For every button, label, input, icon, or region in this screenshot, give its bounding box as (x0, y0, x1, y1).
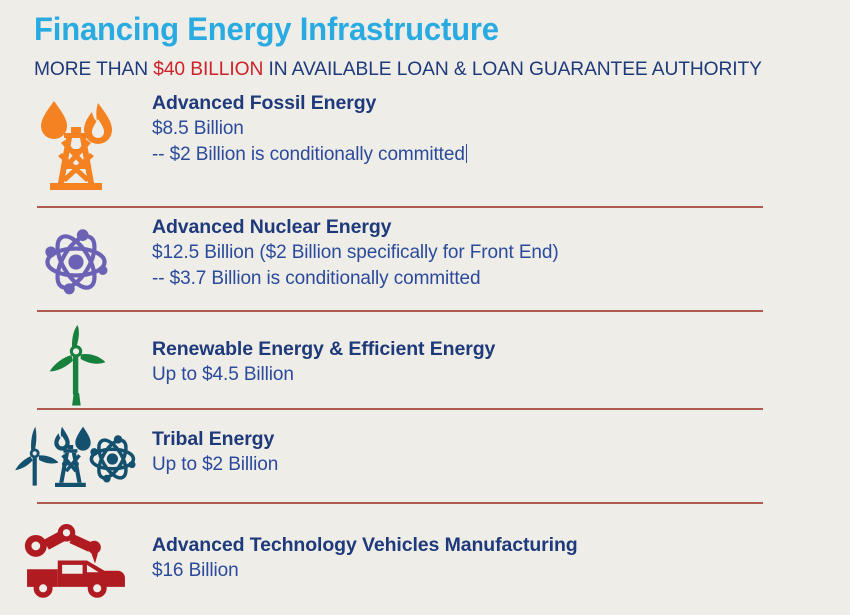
truck-robotic-arm-icon (21, 524, 131, 600)
icon-cell-fossil (0, 88, 152, 198)
program-list: Advanced Fossil Energy $8.5 Billion -- $… (0, 88, 850, 602)
list-item-nuclear: Advanced Nuclear Energy $12.5 Billion ($… (0, 206, 850, 310)
slide-header: Financing Energy Infrastructure MORE THA… (34, 10, 824, 81)
program-amount-fossil: $8.5 Billion (152, 116, 467, 142)
list-item-atvm: Advanced Technology Vehicles Manufacturi… (0, 502, 850, 602)
program-note-fossil: -- $2 Billion is conditionally committed (152, 144, 465, 165)
program-title-renewable: Renewable Energy & Efficient Energy (152, 336, 495, 362)
atom-icon (34, 220, 118, 304)
tribal-energy-composite-icon (13, 424, 139, 494)
list-item-fossil: Advanced Fossil Energy $8.5 Billion -- $… (0, 88, 850, 206)
text-cell-tribal: Tribal Energy Up to $2 Billion (152, 416, 278, 478)
text-cell-renewable: Renewable Energy & Efficient Energy Up t… (152, 320, 495, 388)
program-note-fossil-wrap: -- $2 Billion is conditionally committed (152, 142, 467, 168)
program-amount-renewable: Up to $4.5 Billion (152, 362, 495, 388)
program-title-nuclear: Advanced Nuclear Energy (152, 214, 559, 240)
program-title-atvm: Advanced Technology Vehicles Manufacturi… (152, 532, 578, 558)
subtitle-prefix: MORE THAN (34, 58, 153, 80)
program-title-tribal: Tribal Energy (152, 426, 278, 452)
subtitle-accent-amount: $40 BILLION (153, 58, 263, 80)
program-amount-tribal: Up to $2 Billion (152, 452, 278, 478)
page-title: Financing Energy Infrastructure (34, 10, 800, 48)
program-title-fossil: Advanced Fossil Energy (152, 90, 467, 116)
icon-cell-renewable (0, 320, 152, 412)
icon-cell-nuclear (0, 212, 152, 312)
slide-root: Financing Energy Infrastructure MORE THA… (0, 0, 850, 615)
icon-cell-tribal (0, 416, 152, 502)
program-amount-nuclear: $12.5 Billion ($2 Billion specifically f… (152, 240, 559, 266)
text-cell-fossil: Advanced Fossil Energy $8.5 Billion -- $… (152, 88, 467, 168)
list-item-tribal: Tribal Energy Up to $2 Billion (0, 408, 850, 502)
subtitle: MORE THAN $40 BILLION IN AVAILABLE LOAN … (34, 57, 812, 81)
text-cursor-caret (466, 144, 467, 163)
program-note-nuclear: -- $3.7 Billion is conditionally committ… (152, 266, 559, 292)
list-item-renewable: Renewable Energy & Efficient Energy Up t… (0, 310, 850, 408)
subtitle-suffix: IN AVAILABLE LOAN & LOAN GUARANTEE AUTHO… (263, 58, 762, 80)
text-cell-nuclear: Advanced Nuclear Energy $12.5 Billion ($… (152, 212, 559, 292)
icon-cell-atvm (0, 516, 152, 608)
wind-turbine-icon (37, 325, 115, 407)
program-amount-atvm: $16 Billion (152, 558, 578, 584)
oil-derrick-flame-icon (28, 93, 124, 193)
text-cell-atvm: Advanced Technology Vehicles Manufacturi… (152, 516, 578, 584)
